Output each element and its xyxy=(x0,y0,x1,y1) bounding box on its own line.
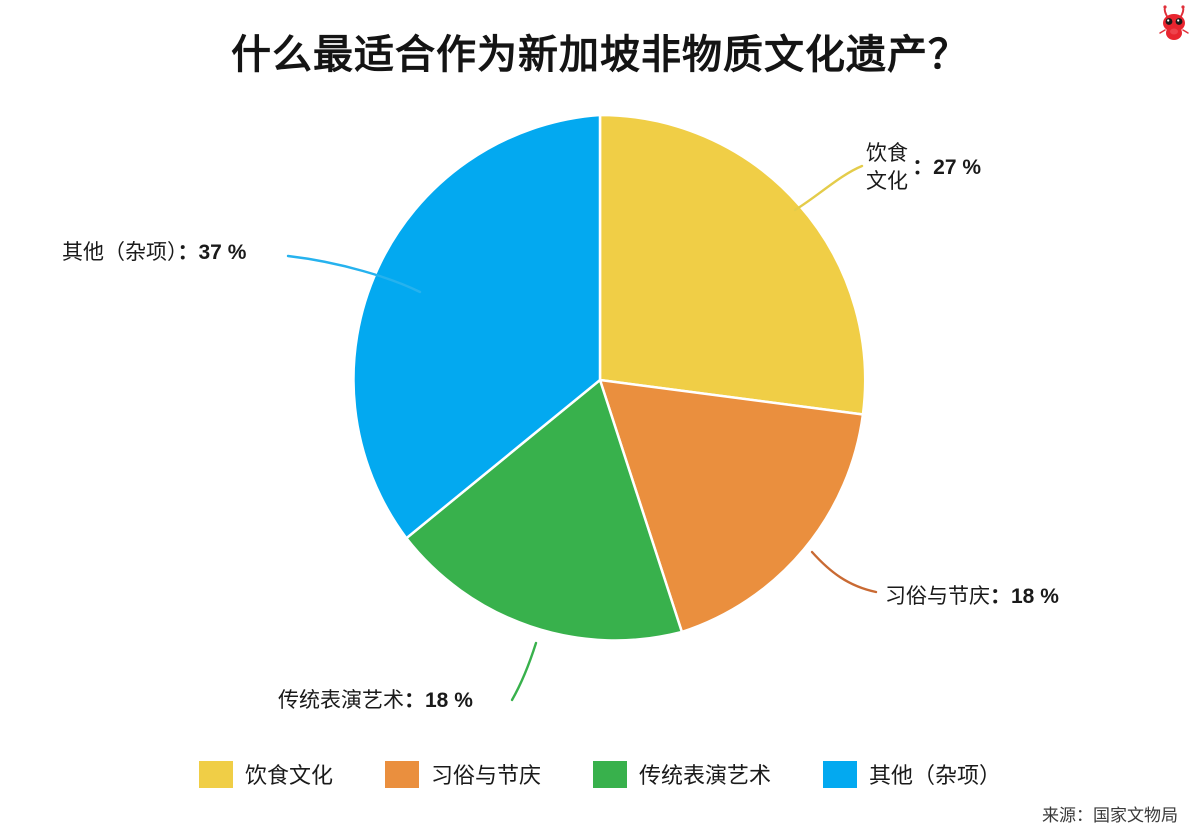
legend-label-food: 饮食文化 xyxy=(245,758,333,790)
callout-custom-value: ：18 % xyxy=(990,585,1059,608)
callout-custom-category: 习俗与节庆 xyxy=(885,585,990,608)
callout-food-value: ：27 % xyxy=(912,156,981,179)
legend-label-arts: 传统表演艺术 xyxy=(639,758,771,790)
legend-item-food[interactable]: 饮食文化 xyxy=(199,758,333,790)
callout-arts-category: 传统表演艺术 xyxy=(278,689,404,712)
leader-line-food xyxy=(795,166,862,210)
callout-label-food: 饮食文化：27 % xyxy=(866,140,1066,195)
legend-swatch-arts xyxy=(593,761,627,788)
callout-other-category: 其他（杂项） xyxy=(62,241,178,264)
leader-line-arts xyxy=(512,643,536,700)
legend-swatch-other xyxy=(823,761,857,788)
legend-label-other: 其他（杂项） xyxy=(869,758,1001,790)
pie-slice-food[interactable] xyxy=(600,115,865,415)
leader-line-custom xyxy=(812,552,876,592)
legend-item-custom[interactable]: 习俗与节庆 xyxy=(385,758,541,790)
legend-label-custom: 习俗与节庆 xyxy=(431,758,541,790)
callout-label-arts: 传统表演艺术：18 % xyxy=(278,687,473,715)
legend-swatch-food xyxy=(199,761,233,788)
pie-chart: 饮食文化：27 % 其他（杂项）：37 % 习俗与节庆：18 % 传统表演艺术：… xyxy=(0,0,1200,750)
callout-label-custom: 习俗与节庆：18 % xyxy=(885,583,1059,611)
callout-food-category: 饮食文化 xyxy=(866,140,912,195)
callout-arts-value: ：18 % xyxy=(404,689,473,712)
legend-item-arts[interactable]: 传统表演艺术 xyxy=(593,758,771,790)
legend-swatch-custom xyxy=(385,761,419,788)
callout-label-other: 其他（杂项）：37 % xyxy=(62,239,246,267)
legend-item-other[interactable]: 其他（杂项） xyxy=(823,758,1001,790)
chart-legend: 饮食文化 习俗与节庆 传统表演艺术 其他（杂项） xyxy=(0,758,1200,790)
source-credit: 来源：国家文物局 xyxy=(1042,801,1178,826)
callout-other-value: ：37 % xyxy=(178,241,247,264)
pie-slices xyxy=(353,115,865,640)
infographic-page: 什么最适合作为新加坡非物质文化遗产？ 饮 xyxy=(0,0,1200,840)
